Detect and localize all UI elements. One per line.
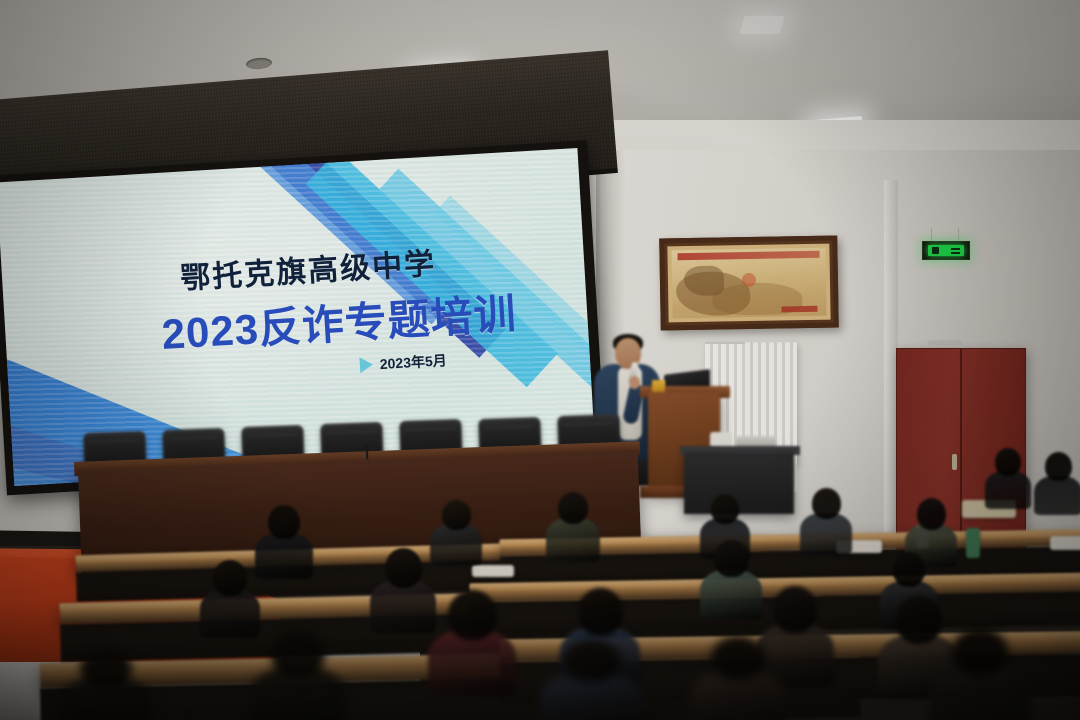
audience-member [428,590,516,686]
play-triangle-icon [359,357,373,374]
slide-date-row: 2023年5月 [359,350,447,375]
chinese-landscape-painting [659,235,839,330]
audience-member-head [271,630,325,677]
door-seam [960,349,962,554]
audience-member [1034,452,1080,508]
audience-member-body [255,533,313,579]
door-closer [928,340,962,345]
audience-member-head [558,492,588,524]
audience-member-head [773,586,817,633]
audience-member-body [430,524,482,565]
audience-member-head [711,494,739,524]
audience-member-head [995,448,1021,476]
audience-member-head [448,590,497,640]
audience-member [800,488,852,548]
audience-member-head [812,488,841,519]
audience-member-body [985,471,1031,509]
audience-member-head [80,650,132,686]
audience-member-head [563,640,621,682]
audience-member-head [952,628,1008,676]
audience-member-head [578,588,623,636]
door-handle[interactable] [952,454,957,470]
handout-paper [1050,536,1080,550]
emergency-exit-icon [922,241,970,260]
audience-member-body [1034,476,1080,515]
painting-artwork [671,248,826,319]
audience-member-body [428,630,516,697]
handout-paper [472,565,514,577]
audience-member-body [700,570,762,620]
audience-member-head [268,505,300,539]
green-water-bottle [966,528,980,558]
audience-member-head [893,552,925,587]
audience-member [546,492,600,554]
audience-member-head [711,636,765,680]
audience-member-head [714,540,749,577]
audience-member-body [546,518,600,561]
audience-member [905,498,957,560]
audience-member [930,628,1030,720]
audience-member [540,640,644,720]
presenter-hand [629,376,640,389]
audience-member-head [213,560,247,596]
audience-member-head [442,500,471,530]
audience-member [255,505,313,571]
painting-title-band [677,251,819,260]
audience-member [60,650,152,720]
slide-date: 2023年5月 [379,350,447,374]
audience-member-head [385,548,422,588]
audience-member [250,630,346,720]
audience-member-body [800,513,852,555]
audience-member [700,540,762,612]
audience-member [370,548,436,624]
audience-member [200,560,260,630]
audience-member [430,500,482,558]
exit-sign-glow [928,245,964,256]
exit-sign-rod [931,228,932,242]
lecture-hall-photo: 鄂托克旗高级中学 2023反诈专题培训 2023年5月 [0,0,1080,720]
audience-member [690,636,786,720]
audience-member [985,448,1031,502]
painting-seal [781,306,817,313]
ceiling-light-panel [739,16,784,34]
exit-sign-rod [958,228,959,242]
audience-member-head [1045,452,1072,481]
audience-member-head [917,498,946,530]
